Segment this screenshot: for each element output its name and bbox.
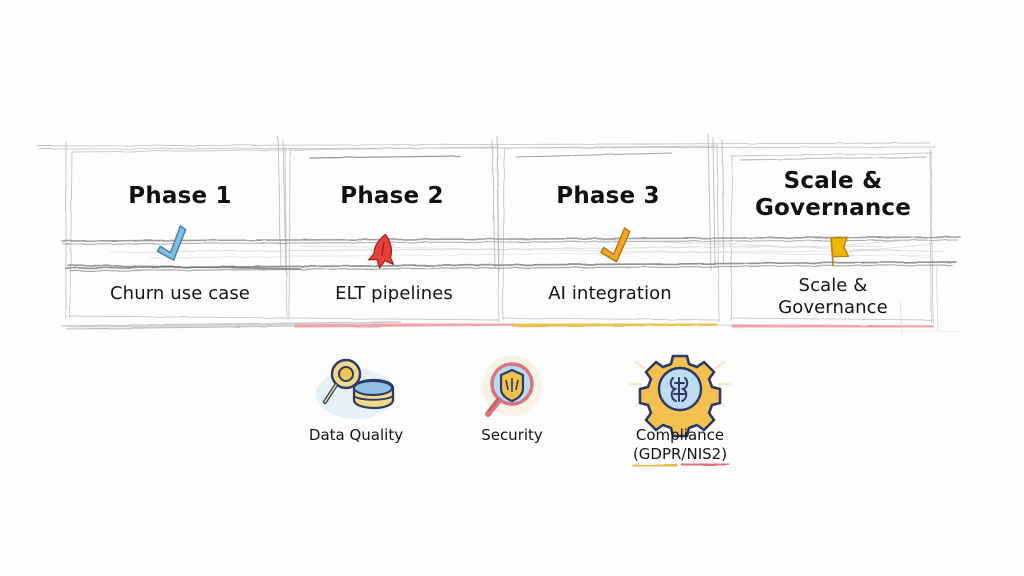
segment-neutral — [70, 325, 296, 327]
phase-milestone-2: ELT pipelines — [292, 283, 496, 305]
progress-bar — [70, 324, 932, 327]
phase-milestone-3: AI integration — [508, 283, 712, 305]
pillar-icon-slot-compliance — [605, 358, 755, 420]
compliance-underlines — [634, 464, 728, 466]
timeline-rail — [62, 237, 960, 271]
pillar-security: Security — [437, 358, 587, 445]
marker-phase-4 — [831, 237, 849, 266]
pillar-icon-slot-data-quality — [281, 358, 431, 420]
pillar-label-compliance: Compliance (GDPR/NIS2) — [605, 426, 755, 464]
phase-header-4: Scale & Governance — [738, 168, 928, 222]
segment-pink-2 — [733, 326, 932, 327]
segment-pink-1 — [296, 324, 512, 326]
marker-phase-2 — [368, 232, 399, 270]
phase-header-3: Phase 3 — [508, 183, 708, 210]
pillar-icon-slot-security — [437, 358, 587, 420]
marker-phase-1 — [153, 225, 193, 264]
phase-milestone-4: Scale & Governance — [738, 275, 928, 318]
pillar-data-quality: Data Quality — [281, 358, 431, 445]
phase-header-1: Phase 1 — [80, 183, 280, 210]
pillar-label-data-quality: Data Quality — [281, 426, 431, 445]
marker-phase-3 — [596, 227, 636, 265]
diagram-canvas: Phase 1 Phase 2 Phase 3 Scale & Governan… — [0, 0, 1024, 576]
baseline-strokes — [62, 322, 960, 331]
phase-header-2: Phase 2 — [292, 183, 492, 210]
pillar-compliance: Compliance (GDPR/NIS2) — [605, 358, 755, 464]
segment-gold — [513, 324, 716, 325]
pillar-label-security: Security — [437, 426, 587, 445]
phase-milestone-1: Churn use case — [78, 283, 282, 305]
